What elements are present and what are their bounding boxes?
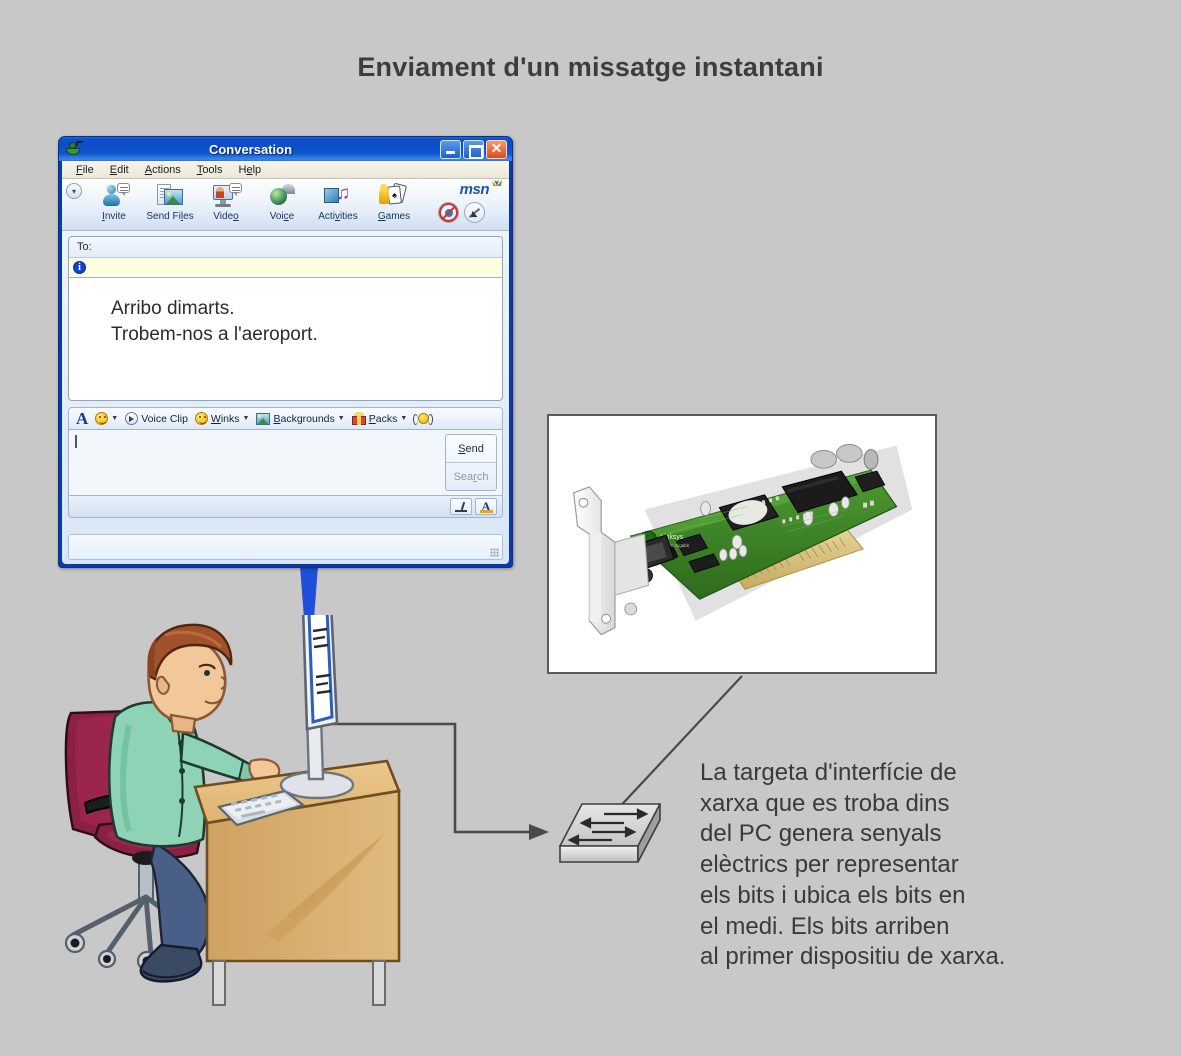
winks-button[interactable]: Winks ▼ — [193, 412, 252, 425]
toolbar-invite-button[interactable]: Invite — [86, 181, 142, 222]
toolbar-voice-label: Voice — [270, 211, 294, 222]
caption-line: els bits i ubica els bits en — [700, 881, 1160, 912]
send-panel: Send Search — [445, 434, 497, 491]
menu-file[interactable]: File — [68, 163, 102, 177]
speaker-icon — [125, 412, 138, 425]
menu-actions[interactable]: Actions — [137, 163, 189, 177]
toolbar-voice-button[interactable]: Voice — [254, 181, 310, 222]
caption-line: xarxa que es troba dins — [700, 789, 1160, 820]
toolbar-activities-label: Activities — [318, 211, 357, 222]
toolbar-send-files-label: Send Files — [146, 211, 193, 222]
toolbar-activities-button[interactable]: ♫ Activities — [310, 181, 366, 222]
voice-clip-label: Voice Clip — [141, 413, 188, 425]
send-button[interactable]: Send — [446, 435, 496, 463]
conversation-messages: Arribo dimarts. Trobem-nos a l'aeroport. — [69, 278, 502, 347]
window-title: Conversation — [63, 142, 438, 157]
toolbar-video-label: Video — [213, 211, 238, 222]
packs-button[interactable]: Packs ▼ — [350, 412, 410, 425]
search-button[interactable]: Search — [446, 463, 496, 490]
chevron-down-icon: ▼ — [400, 415, 407, 422]
input-tool-strip: A — [68, 496, 503, 518]
font-button[interactable]: A — [74, 410, 90, 427]
format-toolbar: A ▼ Voice Clip Winks ▼ Backgrounds ▼ — [68, 407, 503, 430]
page-title: Enviament d'un missatge instantani — [0, 52, 1181, 83]
close-icon: ✕ — [491, 141, 503, 155]
wooden-desk — [195, 761, 399, 1005]
toolbar-send-files-button[interactable]: Send Files — [142, 181, 198, 222]
nudge-icon — [414, 412, 432, 426]
gift-pack-icon — [352, 412, 366, 425]
menubar: File Edit Actions Tools Help — [62, 161, 509, 179]
messenger-toolbar: ▾ Invite Send Files Video Voice — [62, 179, 509, 231]
voice-microphone-icon — [267, 183, 297, 209]
caption-line: el medi. Els bits arriben — [700, 912, 1160, 943]
message-line: Trobem-nos a l'aeroport. — [111, 322, 502, 348]
message-input[interactable] — [69, 430, 445, 495]
chevron-down-icon: ▼ — [111, 415, 118, 422]
caption-line: La targeta d'interfície de — [700, 758, 1160, 789]
emoticon-icon — [95, 412, 108, 425]
messenger-window: Conversation ✕ File Edit Actions Tools H… — [58, 136, 513, 568]
msn-brand: msn — [460, 181, 503, 198]
info-bar: i — [69, 258, 502, 278]
menu-help[interactable]: Help — [231, 163, 270, 177]
chevron-updown-icon[interactable]: ▾ — [66, 183, 82, 199]
pen-icon[interactable] — [464, 202, 485, 223]
toolbar-invite-label: Invite — [102, 211, 126, 222]
packs-label: Packs — [369, 413, 398, 425]
message-line: Arribo dimarts. — [111, 296, 502, 322]
msn-butterfly-icon — [491, 179, 503, 191]
font-A-icon: A — [76, 410, 88, 427]
info-icon: i — [73, 261, 86, 274]
close-button[interactable]: ✕ — [486, 140, 507, 159]
menu-edit[interactable]: Edit — [102, 163, 137, 177]
invite-person-bubble-icon — [99, 183, 129, 209]
video-monitor-icon — [211, 183, 241, 209]
send-files-picture-icon — [155, 183, 185, 209]
person-at-computer-scene — [55, 615, 435, 1015]
caption-line: del PC genera senyals — [700, 819, 1160, 850]
toolbar-games-label: Games — [378, 211, 410, 222]
font-A-icon: A — [481, 500, 490, 513]
network-switch — [540, 790, 680, 880]
conversation-pane: To: i Arribo dimarts. Trobem-nos a l'aer… — [68, 236, 503, 401]
msn-brand-label: msn — [460, 181, 489, 198]
caption-line: al primer dispositiu de xarxa. — [700, 942, 1160, 973]
handwriting-pen-icon[interactable] — [450, 498, 472, 515]
resize-grip-icon[interactable] — [490, 548, 499, 557]
message-input-area: Send Search — [68, 430, 503, 496]
toolbar-right-group: msn — [438, 181, 503, 223]
to-label: To: — [77, 241, 92, 253]
toolbar-video-button[interactable]: Video — [198, 181, 254, 222]
nic-photo-panel: Linksys Instant Gigabit — [547, 414, 937, 674]
network-interface-card-photo: Linksys Instant Gigabit — [549, 416, 935, 672]
block-contact-icon[interactable] — [438, 202, 459, 223]
wink-face-icon — [195, 412, 208, 425]
font-color-button[interactable]: A — [475, 498, 497, 515]
background-thumbnail-icon — [256, 413, 270, 425]
toolbar-games-button[interactable]: Games — [366, 181, 422, 222]
chevron-down-icon: ▼ — [338, 415, 345, 422]
activities-music-icon: ♫ — [323, 183, 353, 209]
minimize-button[interactable] — [440, 140, 461, 159]
window-titlebar: Conversation ✕ — [59, 137, 512, 161]
messenger-contact-icon — [65, 141, 83, 157]
statusbar — [68, 534, 503, 560]
voice-clip-button[interactable]: Voice Clip — [123, 412, 190, 425]
maximize-button[interactable] — [463, 140, 484, 159]
caption-line: elèctrics per representar — [700, 850, 1160, 881]
backgrounds-button[interactable]: Backgrounds ▼ — [254, 413, 346, 425]
nudge-button[interactable] — [412, 412, 434, 426]
menu-tools[interactable]: Tools — [189, 163, 231, 177]
messenger-client-area: To: i Arribo dimarts. Trobem-nos a l'aer… — [62, 231, 509, 564]
chevron-down-icon: ▼ — [243, 415, 250, 422]
caption-text: La targeta d'interfície de xarxa que es … — [700, 758, 1160, 973]
emoticon-button[interactable]: ▼ — [93, 412, 120, 425]
to-row: To: — [69, 237, 502, 258]
winks-label: Winks — [211, 413, 240, 425]
games-cards-icon — [379, 183, 409, 209]
text-caret — [75, 435, 77, 448]
backgrounds-label: Backgrounds — [273, 413, 334, 425]
